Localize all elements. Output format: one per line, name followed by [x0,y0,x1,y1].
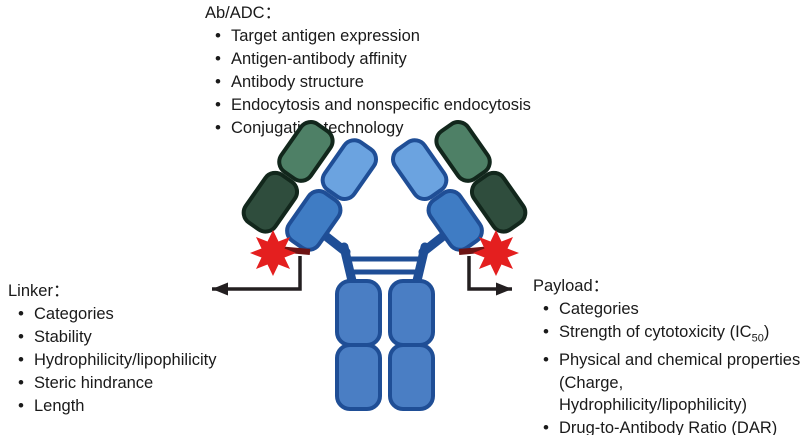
igg-antibody-graphic [0,0,800,435]
arrow-head-left [212,283,228,296]
fc-ch2-left [337,281,380,345]
arrow-head-right [496,283,512,296]
adc-diagram-figure: Ab/ADC： Target antigen expression Antige… [0,0,800,435]
fc-region [337,281,433,409]
hinge-region [318,230,451,285]
linker-callout-arrow [212,256,300,296]
fc-ch2-right [390,281,433,345]
fc-ch3-left [337,345,380,409]
fc-ch3-right [390,345,433,409]
